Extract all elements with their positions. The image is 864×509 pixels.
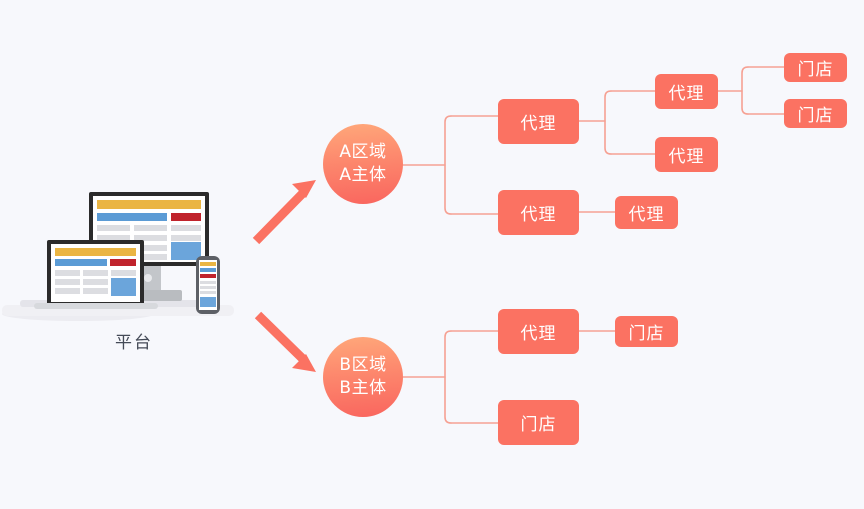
node-a-agent-1[interactable]: 代理: [498, 99, 579, 144]
monitor-panel: [171, 242, 201, 260]
node-b-store-1[interactable]: 门店: [615, 316, 678, 347]
laptop: [34, 240, 158, 309]
platform-label: 平台: [84, 328, 184, 353]
phone-header-bar: [200, 262, 216, 266]
diagram-canvas: 平台 A区域 A主体 B区域 B主体 代理 代理 门店 门店 代理 代理 代理 …: [0, 0, 864, 509]
node-region-a[interactable]: A区域 A主体: [323, 124, 403, 204]
devices-illustration: [0, 190, 250, 325]
laptop-alert-bar: [110, 259, 136, 266]
smartphone: [196, 256, 220, 314]
node-a-agent-2-1[interactable]: 代理: [615, 196, 678, 229]
connector-a-sub1-split: [742, 67, 748, 114]
node-b-store-2[interactable]: 门店: [498, 400, 579, 445]
node-region-b-line1: B区域: [339, 354, 386, 377]
node-region-b-line2: B主体: [339, 377, 386, 400]
connector-a-agent1-split: [605, 91, 611, 154]
node-b-agent-1[interactable]: 代理: [498, 309, 579, 354]
connector-region-b-split: [445, 331, 451, 423]
phone-accent-bar: [200, 268, 216, 272]
laptop-base: [34, 303, 158, 309]
laptop-panel: [111, 278, 136, 296]
monitor-alert-bar: [171, 213, 201, 221]
laptop-accent-bar: [55, 259, 107, 266]
arrow-to-region-b: [258, 315, 316, 372]
arrow-to-region-a: [256, 180, 316, 241]
node-region-a-line1: A区域: [339, 141, 386, 164]
node-a-store-2[interactable]: 门店: [784, 99, 847, 128]
monitor-accent-bar: [97, 213, 167, 221]
node-region-a-line2: A主体: [339, 164, 386, 187]
node-a-agent-1-1[interactable]: 代理: [655, 74, 718, 109]
phone-panel: [200, 297, 216, 307]
laptop-header-bar: [55, 248, 136, 256]
node-a-agent-1-2[interactable]: 代理: [655, 137, 718, 172]
node-a-agent-2[interactable]: 代理: [498, 190, 579, 235]
node-a-store-1[interactable]: 门店: [784, 53, 847, 82]
monitor-header-bar: [97, 200, 201, 209]
phone-alert-bar: [200, 274, 216, 278]
connector-region-a-split: [445, 116, 451, 214]
node-region-b[interactable]: B区域 B主体: [323, 337, 403, 417]
